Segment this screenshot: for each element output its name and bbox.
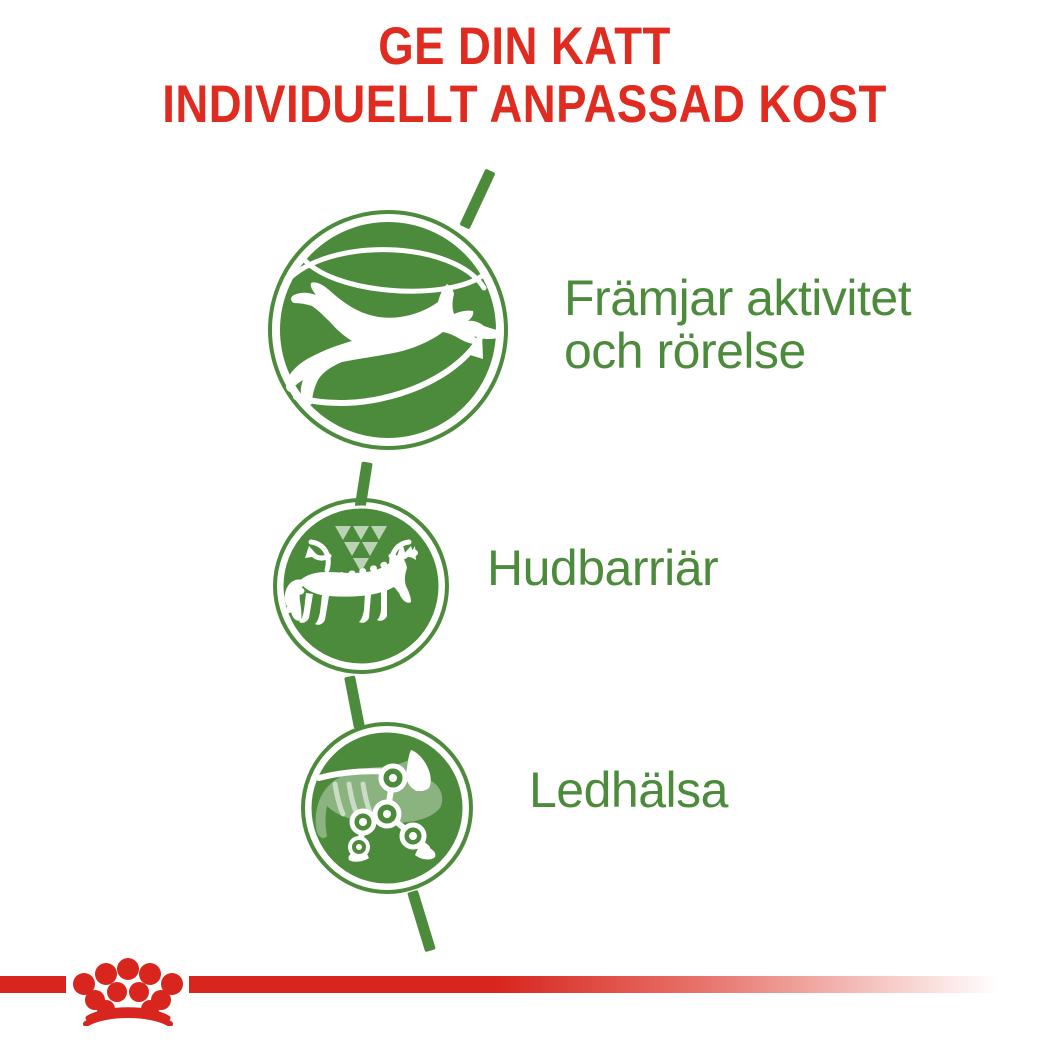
connector-dash-between-2-3 [344, 675, 365, 728]
benefit-label-activity: Främjar aktivitet och rörelse [564, 272, 1049, 378]
page-title-line-2: INDIVIDUELLT ANPASSAD KOST [73, 76, 975, 134]
benefit-label-skin-barrier: Hudbarriär [487, 542, 947, 595]
footer-bar-left [0, 976, 66, 993]
benefit-label-activity-line-2: och rörelse [564, 323, 806, 379]
infographic-canvas: GE DIN KATT INDIVIDUELLT ANPASSAD KOST [0, 0, 1049, 1049]
cat-skin-barrier-icon [273, 498, 449, 679]
benefit-label-activity-line-1: Främjar aktivitet [564, 270, 911, 326]
cat-joint-health-icon [301, 722, 477, 903]
footer-bar-right [189, 976, 999, 993]
page-title: GE DIN KATT INDIVIDUELLT ANPASSAD KOST [73, 18, 975, 134]
leaping-cat-activity-icon [268, 210, 508, 455]
page-title-line-1: GE DIN KATT [73, 18, 975, 76]
benefit-label-joint-health: Ledhälsa [529, 764, 989, 817]
royal-canin-crown-icon [66, 950, 190, 1026]
